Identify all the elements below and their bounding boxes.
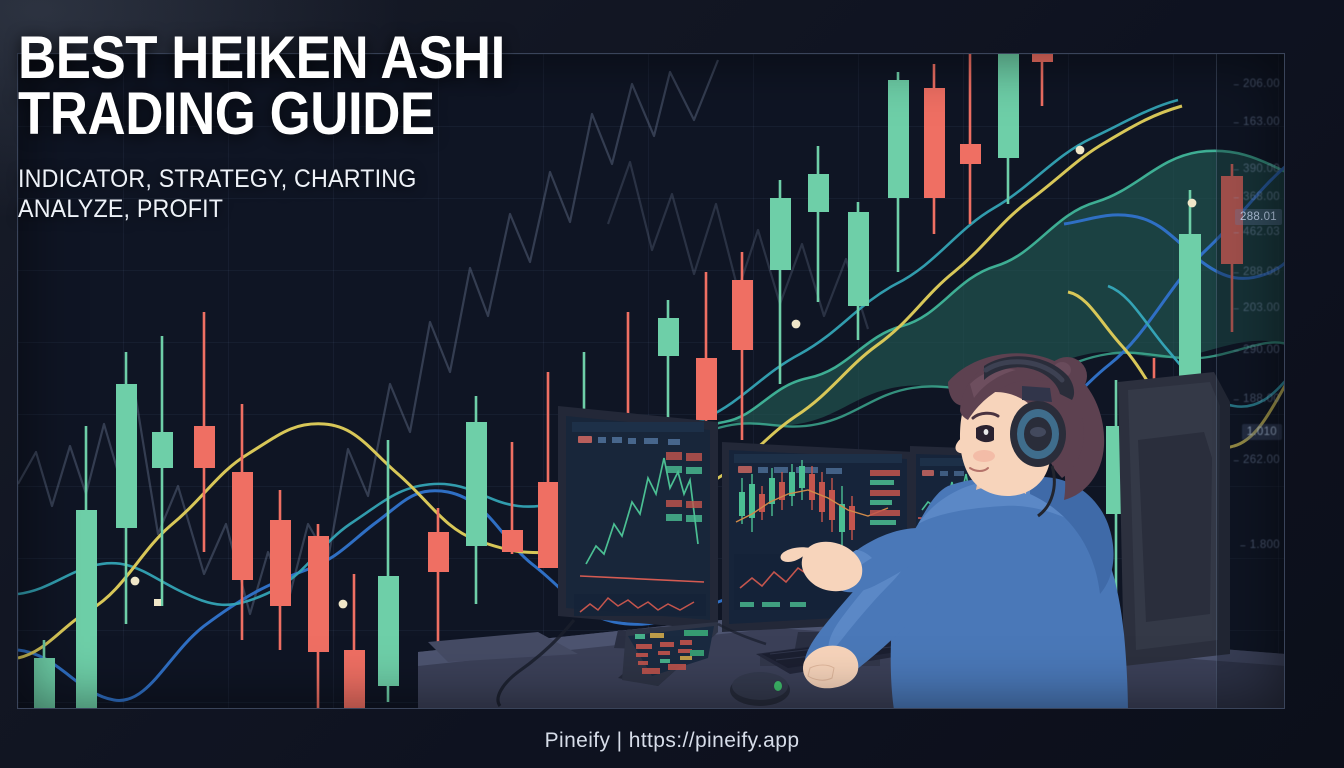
price-tick: –163.00	[1234, 116, 1280, 128]
price-tick-marker: 1.010	[1242, 424, 1282, 440]
tick-dash: –	[1234, 303, 1239, 313]
title-line-2: Trading Guide	[18, 86, 581, 142]
tick-dash: –	[1234, 394, 1239, 404]
tick-dash: –	[1234, 455, 1239, 465]
price-tick: –368.00	[1234, 191, 1280, 203]
price-tick: –262.00	[1234, 454, 1280, 466]
price-tick: –288.00	[1234, 266, 1280, 278]
tick-dash: –	[1240, 540, 1245, 550]
tick-dash: –	[1234, 79, 1239, 89]
price-axis[interactable]: –206.00 –163.00 –390.00 –368.00 288.01 –…	[1216, 54, 1284, 708]
price-tick: –390.00	[1234, 163, 1280, 175]
footer-bar: Pineify | https://pineify.app	[0, 714, 1344, 768]
page-title: Best Heiken Ashi Trading Guide	[18, 30, 581, 142]
tick-dash: –	[1234, 227, 1239, 237]
tick-dash: –	[1234, 267, 1239, 277]
headline-block: Best Heiken Ashi Trading Guide Indicator…	[18, 30, 658, 225]
price-tick: –203.00	[1234, 302, 1280, 314]
price-tick: –462.03	[1234, 226, 1280, 238]
price-tick: –290.00	[1234, 344, 1280, 356]
price-tick: –188.00	[1234, 393, 1280, 405]
tick-dash: –	[1234, 345, 1239, 355]
price-tick-current: 288.01	[1235, 209, 1282, 225]
page-subtitle: Indicator, Strategy, Charting Analyze, P…	[18, 164, 613, 225]
subtitle-line-1: Indicator, Strategy, Charting	[18, 164, 613, 195]
tick-dash: –	[1234, 164, 1239, 174]
footer-text: Pineify | https://pineify.app	[545, 729, 800, 753]
subtitle-line-2: Analyze, Profit	[18, 194, 613, 225]
tick-dash: –	[1234, 117, 1239, 127]
banner-canvas: –206.00 –163.00 –390.00 –368.00 288.01 –…	[0, 0, 1344, 768]
title-line-1: Best Heiken Ashi	[18, 30, 581, 86]
price-tick: –1.800	[1240, 539, 1280, 551]
price-tick: –206.00	[1234, 78, 1280, 90]
tick-dash: –	[1234, 192, 1239, 202]
